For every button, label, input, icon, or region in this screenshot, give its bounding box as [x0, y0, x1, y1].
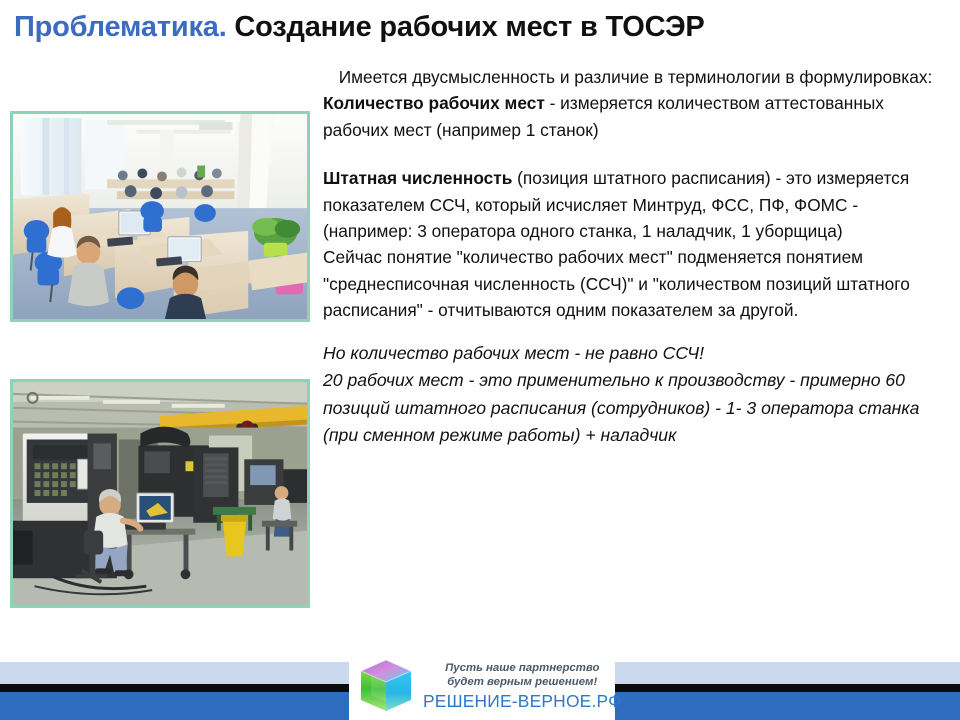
paragraph-workplaces-count-lead: Количество рабочих мест [323, 93, 545, 113]
paragraph-substitution: Сейчас понятие "количество рабочих мест"… [323, 244, 948, 323]
paragraph-example-20: 20 рабочих мест - это применительно к пр… [323, 367, 948, 450]
title-main-text: Создание рабочих мест в ТОСЭР [227, 11, 705, 43]
paragraph-not-equal: Но количество рабочих мест - не равно СС… [323, 340, 948, 368]
cube-logo-graphic [357, 657, 415, 715]
logo-domain-text: РЕШЕНИЕ-ВЕРНОЕ.РФ [423, 691, 622, 711]
logo-slogan-line-1: Пусть наше партнерство [445, 661, 599, 675]
office-photo-graphic [13, 114, 307, 319]
intro-paragraph: Имеется двусмысленность и различие в тер… [323, 64, 948, 90]
factory-workshop-photo [10, 379, 310, 608]
logo-slogan-line-2: будет верным решением! [447, 675, 597, 689]
paragraph-staff-headcount: Штатная численность (позиция штатного ра… [323, 165, 948, 244]
page-title: Проблематика. Создание рабочих мест в ТО… [14, 8, 944, 48]
footer-logo-block[interactable]: Пусть наше партнерство будет верным реше… [349, 651, 615, 720]
title-accent-text: Проблематика. [14, 11, 227, 43]
footer-logo-text: Пусть наше партнерство будет верным реше… [423, 661, 622, 711]
slide-root: Проблематика. Создание рабочих мест в ТО… [0, 0, 960, 720]
cube-logo-icon [357, 657, 415, 715]
open-plan-office-photo [10, 111, 310, 322]
slide-body-text: Имеется двусмысленность и различие в тер… [323, 64, 948, 450]
factory-photo-graphic [13, 382, 307, 605]
paragraph-workplaces-count: Количество рабочих мест - измеряется кол… [323, 90, 948, 143]
paragraph-staff-headcount-lead: Штатная численность [323, 168, 512, 188]
